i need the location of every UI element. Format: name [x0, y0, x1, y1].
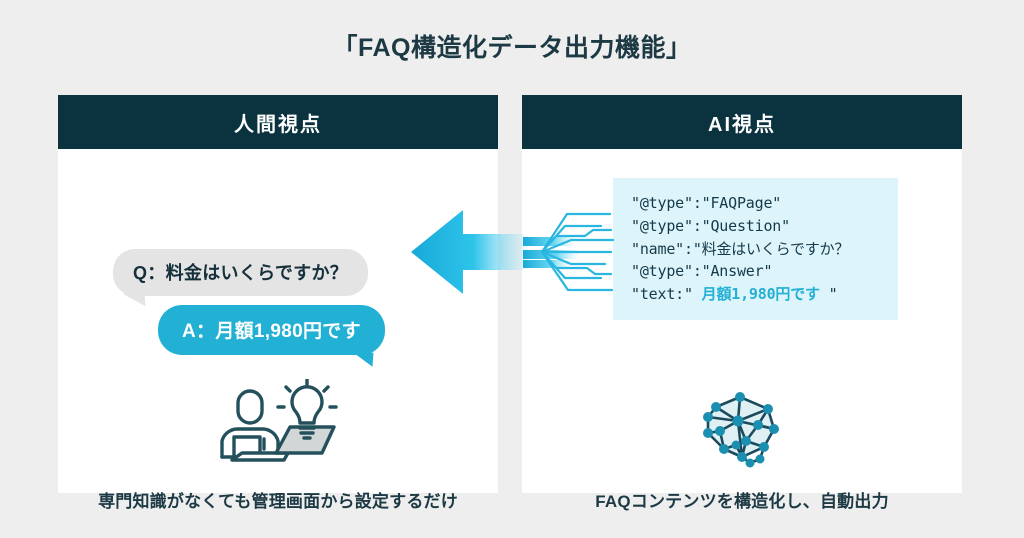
page-title: 「FAQ構造化データ出力機能」 [0, 28, 1024, 64]
code-prefix: "text:" [631, 285, 702, 303]
panel-body-human: Q：料金はいくらですか？ A：月額1,980円です [58, 149, 498, 493]
code-highlight-value: 月額1,980円です [702, 285, 820, 303]
panel-body-ai: "@type":"FAQPage" "@type":"Question" "na… [522, 149, 962, 493]
panel-ai-view: AI視点 "@type":"FAQPage" "@type":"Question… [522, 95, 962, 493]
neural-network-brain-icon [694, 387, 790, 471]
panel-header-ai: AI視点 [522, 95, 962, 149]
code-line: "@type":"Answer" [631, 260, 894, 283]
code-suffix: " [820, 285, 838, 303]
panel-header-human: 人間視点 [58, 95, 498, 149]
panel-human-view: 人間視点 Q：料金はいくらですか？ A：月額1,980円です [58, 95, 498, 493]
person-at-laptop-with-lightbulb-icon [212, 379, 344, 471]
code-line: "@type":"FAQPage" [631, 192, 894, 215]
speech-bubble-answer: A：月額1,980円です [158, 305, 385, 355]
caption-human: 専門知識がなくても管理画面から設定するだけ [58, 487, 498, 512]
slide-canvas: 「FAQ構造化データ出力機能」 人間視点 Q：料金はいくらですか？ A：月額1,… [0, 0, 1024, 538]
structured-data-code-block: "@type":"FAQPage" "@type":"Question" "na… [613, 178, 898, 320]
caption-ai: FAQコンテンツを構造化し、自動出力 [522, 487, 962, 512]
speech-bubble-question: Q：料金はいくらですか？ [113, 249, 368, 296]
code-line-highlighted: "text:" 月額1,980円です " [631, 283, 894, 306]
code-line: "name":"料金はいくらですか？ [631, 238, 894, 261]
code-line: "@type":"Question" [631, 215, 894, 238]
